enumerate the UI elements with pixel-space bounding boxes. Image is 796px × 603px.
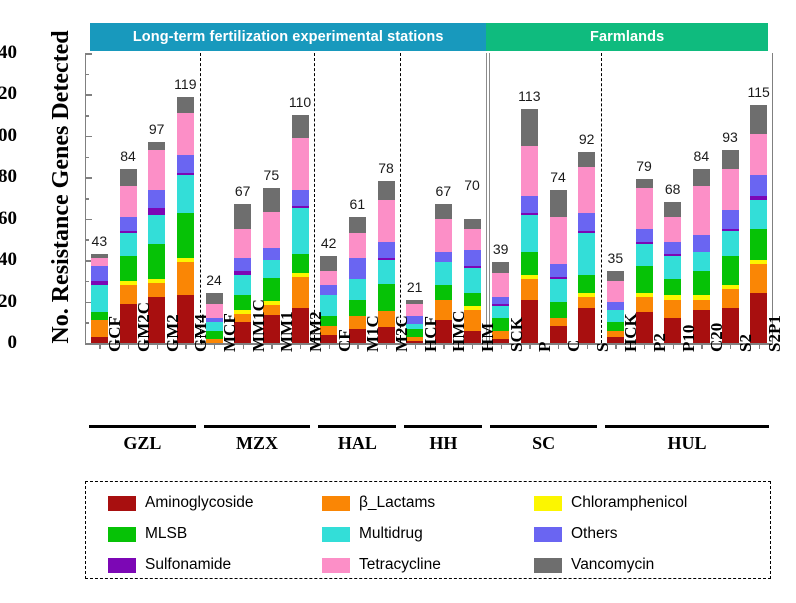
x-tick-label-gm4: GM4 <box>191 314 211 352</box>
bar-segment-tetracycline <box>693 186 710 236</box>
bar-segment-mlsb <box>177 213 194 259</box>
bar-total-label: 35 <box>593 250 637 266</box>
bar-segment-others <box>607 302 624 310</box>
x-tick-mark <box>644 343 645 349</box>
bar-segment-others <box>578 213 595 232</box>
x-tick-label-s: S <box>593 343 613 352</box>
bar-segment-others <box>91 266 108 281</box>
bar-segment-others <box>120 217 137 232</box>
bar-segment-beta_lactams <box>550 318 567 326</box>
bar-segment-tetracycline <box>91 258 108 266</box>
bar-segment-tetracycline <box>722 169 739 210</box>
group-separator <box>601 53 602 343</box>
bar-segment-multidrug <box>120 233 137 256</box>
group-label-sc: SC <box>490 433 597 454</box>
bar-segment-mlsb <box>435 285 452 300</box>
y-tick-label: 80 <box>0 166 17 188</box>
bar-segment-mlsb <box>693 271 710 296</box>
x-tick-label-gm2c: GM2C <box>134 302 154 352</box>
bar-total-label: 61 <box>335 196 379 212</box>
bar-total-label: 21 <box>393 279 437 295</box>
bar-segment-tetracycline <box>578 167 595 213</box>
bar-total-label: 93 <box>708 129 752 145</box>
x-tick-mark <box>329 343 330 349</box>
bar-total-label: 113 <box>507 88 551 104</box>
x-tick-label-p2: P2 <box>650 333 670 352</box>
bar-segment-vancomycin <box>435 204 452 219</box>
bar-total-label: 97 <box>135 121 179 137</box>
legend-item-others[interactable]: Others <box>534 525 618 543</box>
bar-segment-others <box>521 196 538 213</box>
x-tick-mark <box>386 343 387 349</box>
bar-segment-beta_lactams <box>722 289 739 308</box>
bar-segment-vancomycin <box>664 202 681 217</box>
legend-item-chloramphenicol[interactable]: Chloramphenicol <box>534 494 687 512</box>
group-separator <box>314 53 315 343</box>
legend-item-sulfonamide[interactable]: Sulfonamide <box>108 556 231 574</box>
bar-total-label: 92 <box>565 131 609 147</box>
bar-segment-multidrug <box>464 268 481 293</box>
bar-segment-tetracycline <box>750 134 767 175</box>
bar-segment-vancomycin <box>578 152 595 167</box>
bar-total-label: 74 <box>536 169 580 185</box>
bar-segment-tetracycline <box>349 233 366 258</box>
stacked-bar[interactable] <box>292 115 309 343</box>
legend-item-multidrug[interactable]: Multidrug <box>322 525 423 543</box>
legend-label: Chloramphenicol <box>571 494 687 512</box>
bar-segment-vancomycin <box>607 271 624 281</box>
bar-segment-beta_lactams <box>148 283 165 298</box>
bar-segment-tetracycline <box>664 217 681 242</box>
x-tick-mark <box>701 343 702 349</box>
bar-segment-vancomycin <box>206 293 223 303</box>
bar-segment-others <box>693 235 710 252</box>
chart-figure: No. Resistance Genes Detected Long-term … <box>0 0 796 603</box>
bar-segment-tetracycline <box>435 219 452 252</box>
x-tick-label-s2: S2 <box>736 334 756 352</box>
legend-swatch-beta_lactams <box>322 496 350 511</box>
x-tick-label-mm2: MM2 <box>306 311 326 352</box>
bar-segment-others <box>378 242 395 258</box>
x-tick-mark <box>587 343 588 349</box>
bar-segment-multidrug <box>349 279 366 300</box>
stacked-bar[interactable] <box>664 202 681 343</box>
x-tick-mark <box>529 343 530 349</box>
bar-total-label: 110 <box>278 94 322 110</box>
bar-total-label: 75 <box>249 167 293 183</box>
x-tick-mark <box>300 343 301 349</box>
bar-segment-others <box>263 248 280 260</box>
legend-swatch-multidrug <box>322 527 350 542</box>
legend-swatch-others <box>534 527 562 542</box>
bar-segment-vancomycin <box>378 181 395 199</box>
bar-segment-mlsb <box>148 244 165 279</box>
bar-segment-others <box>148 190 165 209</box>
x-tick-label-c20: C20 <box>707 323 727 352</box>
bar-segment-others <box>722 210 739 229</box>
bar-segment-tetracycline <box>550 217 567 265</box>
y-tick-label: 40 <box>0 249 17 271</box>
legend-item-tetracycline[interactable]: Tetracycline <box>322 556 441 574</box>
x-tick-mark <box>615 343 616 349</box>
x-tick-label-p: P <box>535 342 555 352</box>
bar-segment-vancomycin <box>234 204 251 229</box>
legend-label: Multidrug <box>359 525 423 543</box>
bar-segment-vancomycin <box>693 169 710 186</box>
bar-segment-mlsb <box>722 256 739 285</box>
bar-segment-others <box>636 229 653 241</box>
x-tick-mark <box>157 343 158 349</box>
bar-segment-others <box>292 190 309 207</box>
bar-segment-multidrug <box>636 244 653 267</box>
bar-segment-tetracycline <box>492 273 509 298</box>
legend-label: MLSB <box>145 525 187 543</box>
panel-band-label: Long-term fertilization experimental sta… <box>133 29 444 45</box>
x-tick-mark <box>185 343 186 349</box>
stacked-bar[interactable] <box>521 109 538 343</box>
group-underline <box>89 425 196 428</box>
bar-segment-beta_lactams <box>578 297 595 307</box>
bar-segment-tetracycline <box>177 113 194 154</box>
group-underline <box>490 425 597 428</box>
bar-segment-multidrug <box>693 252 710 271</box>
bar-segment-mlsb <box>636 266 653 293</box>
x-tick-label-gm2: GM2 <box>163 314 183 352</box>
bar-segment-multidrug <box>722 231 739 256</box>
group-label-gzl: GZL <box>89 433 196 454</box>
bar-segment-mlsb <box>292 254 309 273</box>
bar-total-label: 42 <box>307 235 351 251</box>
bar-segment-vancomycin <box>148 142 165 150</box>
bar-segment-mlsb <box>120 256 137 281</box>
bar-segment-tetracycline <box>234 229 251 258</box>
stacked-bar[interactable] <box>578 152 595 343</box>
bar-segment-mlsb <box>349 300 366 317</box>
legend-swatch-mlsb <box>108 527 136 542</box>
x-tick-label-p10: P10 <box>679 325 699 352</box>
x-tick-label-s2p1: S2P1 <box>765 315 785 352</box>
bar-segment-multidrug <box>521 215 538 252</box>
legend-label: Others <box>571 525 618 543</box>
group-label-hal: HAL <box>318 433 396 454</box>
bar-total-label: 119 <box>163 76 207 92</box>
panel-band-label: Farmlands <box>590 29 664 45</box>
bar-segment-mlsb <box>550 302 567 319</box>
bar-segment-tetracycline <box>263 212 280 248</box>
bar-segment-vancomycin <box>120 169 137 186</box>
bar-segment-tetracycline <box>292 138 309 190</box>
group-underline <box>204 425 311 428</box>
bar-segment-vancomycin <box>722 150 739 169</box>
bar-segment-mlsb <box>578 275 595 294</box>
x-tick-label-cf: CF <box>335 329 355 352</box>
bar-segment-vancomycin <box>292 115 309 138</box>
x-tick-mark <box>99 343 100 349</box>
x-tick-mark <box>357 343 358 349</box>
bar-segment-mlsb <box>521 252 538 275</box>
bar-total-label: 67 <box>221 183 265 199</box>
bar-segment-others <box>664 242 681 254</box>
x-tick-mark <box>759 343 760 349</box>
legend: Aminoglycosideβ_LactamsChloramphenicolML… <box>85 481 771 579</box>
bar-total-label: 68 <box>651 181 695 197</box>
bar-segment-others <box>435 252 452 262</box>
x-tick-label-hck: HCK <box>621 313 641 352</box>
bar-segment-multidrug <box>234 275 251 296</box>
bar-total-label: 79 <box>622 158 666 174</box>
bar-segment-tetracycline <box>120 186 137 217</box>
bar-total-label: 84 <box>679 148 723 164</box>
bar-segment-others <box>234 258 251 270</box>
group-separator <box>400 53 401 343</box>
legend-item-aminoglycoside[interactable]: Aminoglycoside <box>108 494 254 512</box>
group-underline <box>318 425 396 428</box>
y-tick-label: 140 <box>0 42 17 64</box>
x-tick-label-hm: HM <box>478 323 498 352</box>
bar-segment-beta_lactams <box>693 300 710 310</box>
legend-swatch-vancomycin <box>534 558 562 573</box>
legend-item-vancomycin[interactable]: Vancomycin <box>534 556 654 574</box>
x-tick-label-m2c: M2C <box>392 315 412 352</box>
y-tick-label: 0 <box>0 332 17 354</box>
bar-segment-multidrug <box>435 262 452 285</box>
bar-segment-beta_lactams <box>636 297 653 312</box>
x-tick-mark <box>558 343 559 349</box>
x-tick-mark <box>501 343 502 349</box>
x-tick-mark <box>472 343 473 349</box>
legend-swatch-tetracycline <box>322 558 350 573</box>
y-tick-label: 100 <box>0 125 17 147</box>
y-tick-label: 120 <box>0 83 17 105</box>
bar-segment-vancomycin <box>750 105 767 134</box>
bar-total-label: 43 <box>77 233 121 249</box>
x-tick-mark <box>214 343 215 349</box>
stacked-bar[interactable] <box>177 97 194 344</box>
group-label-mzx: MZX <box>204 433 311 454</box>
bar-segment-vancomycin <box>177 97 194 114</box>
bar-segment-multidrug <box>750 200 767 229</box>
x-tick-label-sck: SCK <box>507 317 527 352</box>
bar-segment-others <box>320 285 337 295</box>
bar-segment-others <box>349 258 366 279</box>
bar-total-label: 115 <box>737 84 781 100</box>
x-tick-mark <box>243 343 244 349</box>
x-tick-label-mm1c: MM1C <box>249 299 269 352</box>
bar-segment-tetracycline <box>378 200 395 242</box>
stacked-bar[interactable] <box>722 150 739 343</box>
x-tick-mark <box>415 343 416 349</box>
group-underline <box>605 425 769 428</box>
bar-segment-vancomycin <box>464 219 481 229</box>
bar-segment-beta_lactams <box>120 285 137 304</box>
x-tick-mark <box>730 343 731 349</box>
x-tick-label-m1c: M1C <box>363 315 383 352</box>
legend-swatch-sulfonamide <box>108 558 136 573</box>
bar-segment-beta_lactams <box>521 279 538 300</box>
x-tick-mark <box>271 343 272 349</box>
bar-segment-vancomycin <box>550 190 567 217</box>
legend-swatch-chloramphenicol <box>534 496 562 511</box>
bar-segment-multidrug <box>263 260 280 278</box>
bar-total-label: 78 <box>364 160 408 176</box>
bar-segment-mlsb <box>263 278 280 300</box>
panel-boundary-line <box>489 53 490 343</box>
bar-total-label: 39 <box>479 241 523 257</box>
bar-segment-beta_lactams <box>750 264 767 293</box>
stacked-bar[interactable] <box>550 190 567 343</box>
bar-segment-others <box>750 175 767 196</box>
x-tick-mark <box>673 343 674 349</box>
legend-label: Aminoglycoside <box>145 494 254 512</box>
x-tick-label-c: C <box>564 340 584 352</box>
bar-segment-mlsb <box>464 293 481 305</box>
bar-segment-multidrug <box>91 285 108 312</box>
group-underline <box>404 425 482 428</box>
bar-segment-beta_lactams <box>664 300 681 319</box>
bar-segment-vancomycin <box>349 217 366 234</box>
bar-segment-multidrug <box>664 256 681 279</box>
bar-segment-vancomycin <box>492 262 509 272</box>
bar-segment-tetracycline <box>148 150 165 189</box>
legend-swatch-aminoglycoside <box>108 496 136 511</box>
legend-label: Vancomycin <box>571 556 654 574</box>
legend-item-mlsb[interactable]: MLSB <box>108 525 187 543</box>
bar-segment-multidrug <box>177 175 194 212</box>
x-tick-mark <box>128 343 129 349</box>
x-tick-label-gcf: GCF <box>105 316 125 352</box>
group-label-hul: HUL <box>605 433 769 454</box>
x-tick-mark <box>443 343 444 349</box>
bar-total-label: 70 <box>450 177 494 193</box>
bar-segment-vancomycin <box>263 188 280 212</box>
group-separator <box>200 53 201 343</box>
bar-total-label: 84 <box>106 148 150 164</box>
y-tick-label: 60 <box>0 208 17 230</box>
y-tick-label: 20 <box>0 291 17 313</box>
legend-label: β_Lactams <box>359 494 435 512</box>
bar-segment-beta_lactams <box>292 277 309 308</box>
bar-total-label: 24 <box>192 272 236 288</box>
x-tick-label-mcf: MCF <box>220 313 240 352</box>
stacked-bar[interactable] <box>750 105 767 343</box>
bar-segment-tetracycline <box>607 281 624 302</box>
bar-segment-tetracycline <box>320 271 337 286</box>
group-label-hh: HH <box>404 433 482 454</box>
bar-segment-multidrug <box>550 279 567 302</box>
x-tick-label-hmc: HMC <box>449 310 469 352</box>
bar-segment-mlsb <box>750 229 767 260</box>
legend-label: Sulfonamide <box>145 556 231 574</box>
bar-segment-mlsb <box>664 279 681 296</box>
x-tick-label-hcf: HCF <box>421 316 441 352</box>
bar-segment-others <box>550 264 567 276</box>
panel-band-farmlands: Farmlands <box>486 23 768 51</box>
group-separator <box>486 53 487 343</box>
bar-segment-vancomycin <box>521 109 538 146</box>
y-axis-title: No. Resistance Genes Detected <box>44 22 78 352</box>
stacked-bar[interactable] <box>693 169 710 343</box>
bar-segment-others <box>177 155 194 174</box>
legend-item-beta_lactams[interactable]: β_Lactams <box>322 494 435 512</box>
x-tick-label-mm1: MM1 <box>277 311 297 352</box>
panel-band-long-term-stations: Long-term fertilization experimental sta… <box>90 23 486 51</box>
bar-segment-multidrug <box>148 215 165 244</box>
bar-segment-vancomycin <box>320 256 337 271</box>
legend-label: Tetracycline <box>359 556 441 574</box>
bar-segment-aminoglycoside <box>578 308 595 343</box>
